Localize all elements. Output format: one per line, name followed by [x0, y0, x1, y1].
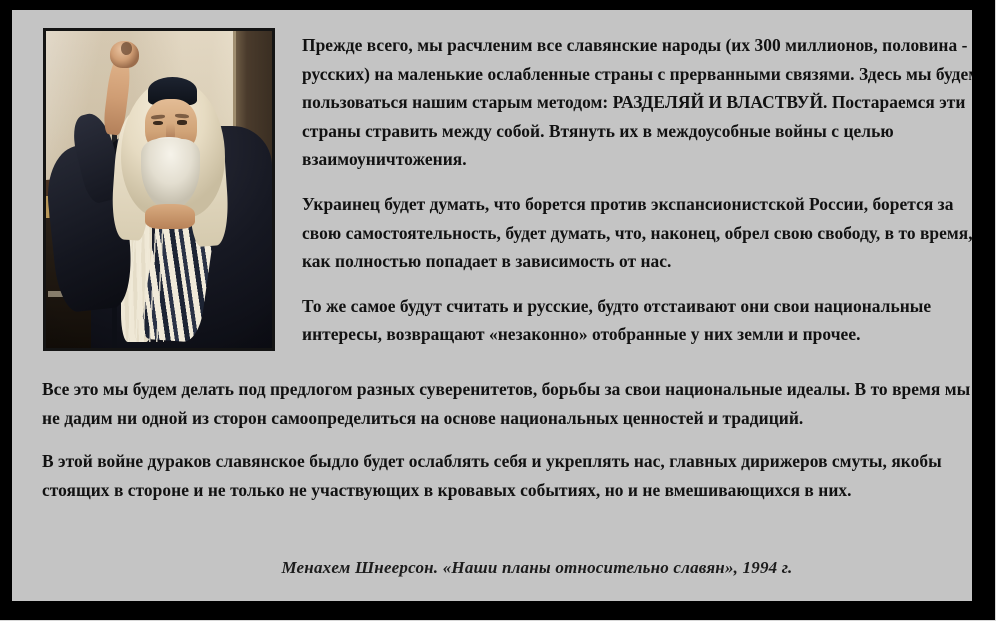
quote-paragraph-3: То же самое будут считать и русские, буд…	[302, 292, 972, 349]
quote-poster: Прежде всего, мы расчленим все славянски…	[0, 0, 996, 621]
quote-text-full-width: Все это мы будем делать под предлогом ра…	[42, 375, 972, 504]
quote-text-right-column: Прежде всего, мы расчленим все славянски…	[302, 31, 972, 349]
photo-vignette	[46, 31, 272, 348]
quote-paragraph-2: Украинец будет думать, что борется проти…	[302, 190, 972, 276]
quote-paragraph-5: В этой войне дураков славянское быдло бу…	[42, 447, 972, 504]
portrait-photo-frame	[43, 28, 275, 351]
attribution-text: Менахем Шнеерсон. «Наши планы относитель…	[223, 558, 792, 578]
portrait-photo	[46, 31, 272, 348]
quote-paragraph-4: Все это мы будем делать под предлогом ра…	[42, 375, 972, 432]
poster-canvas: Прежде всего, мы расчленим все славянски…	[12, 10, 972, 601]
quote-paragraph-1: Прежде всего, мы расчленим все славянски…	[302, 31, 972, 174]
attribution: Менахем Шнеерсон. «Наши планы относитель…	[42, 558, 972, 578]
